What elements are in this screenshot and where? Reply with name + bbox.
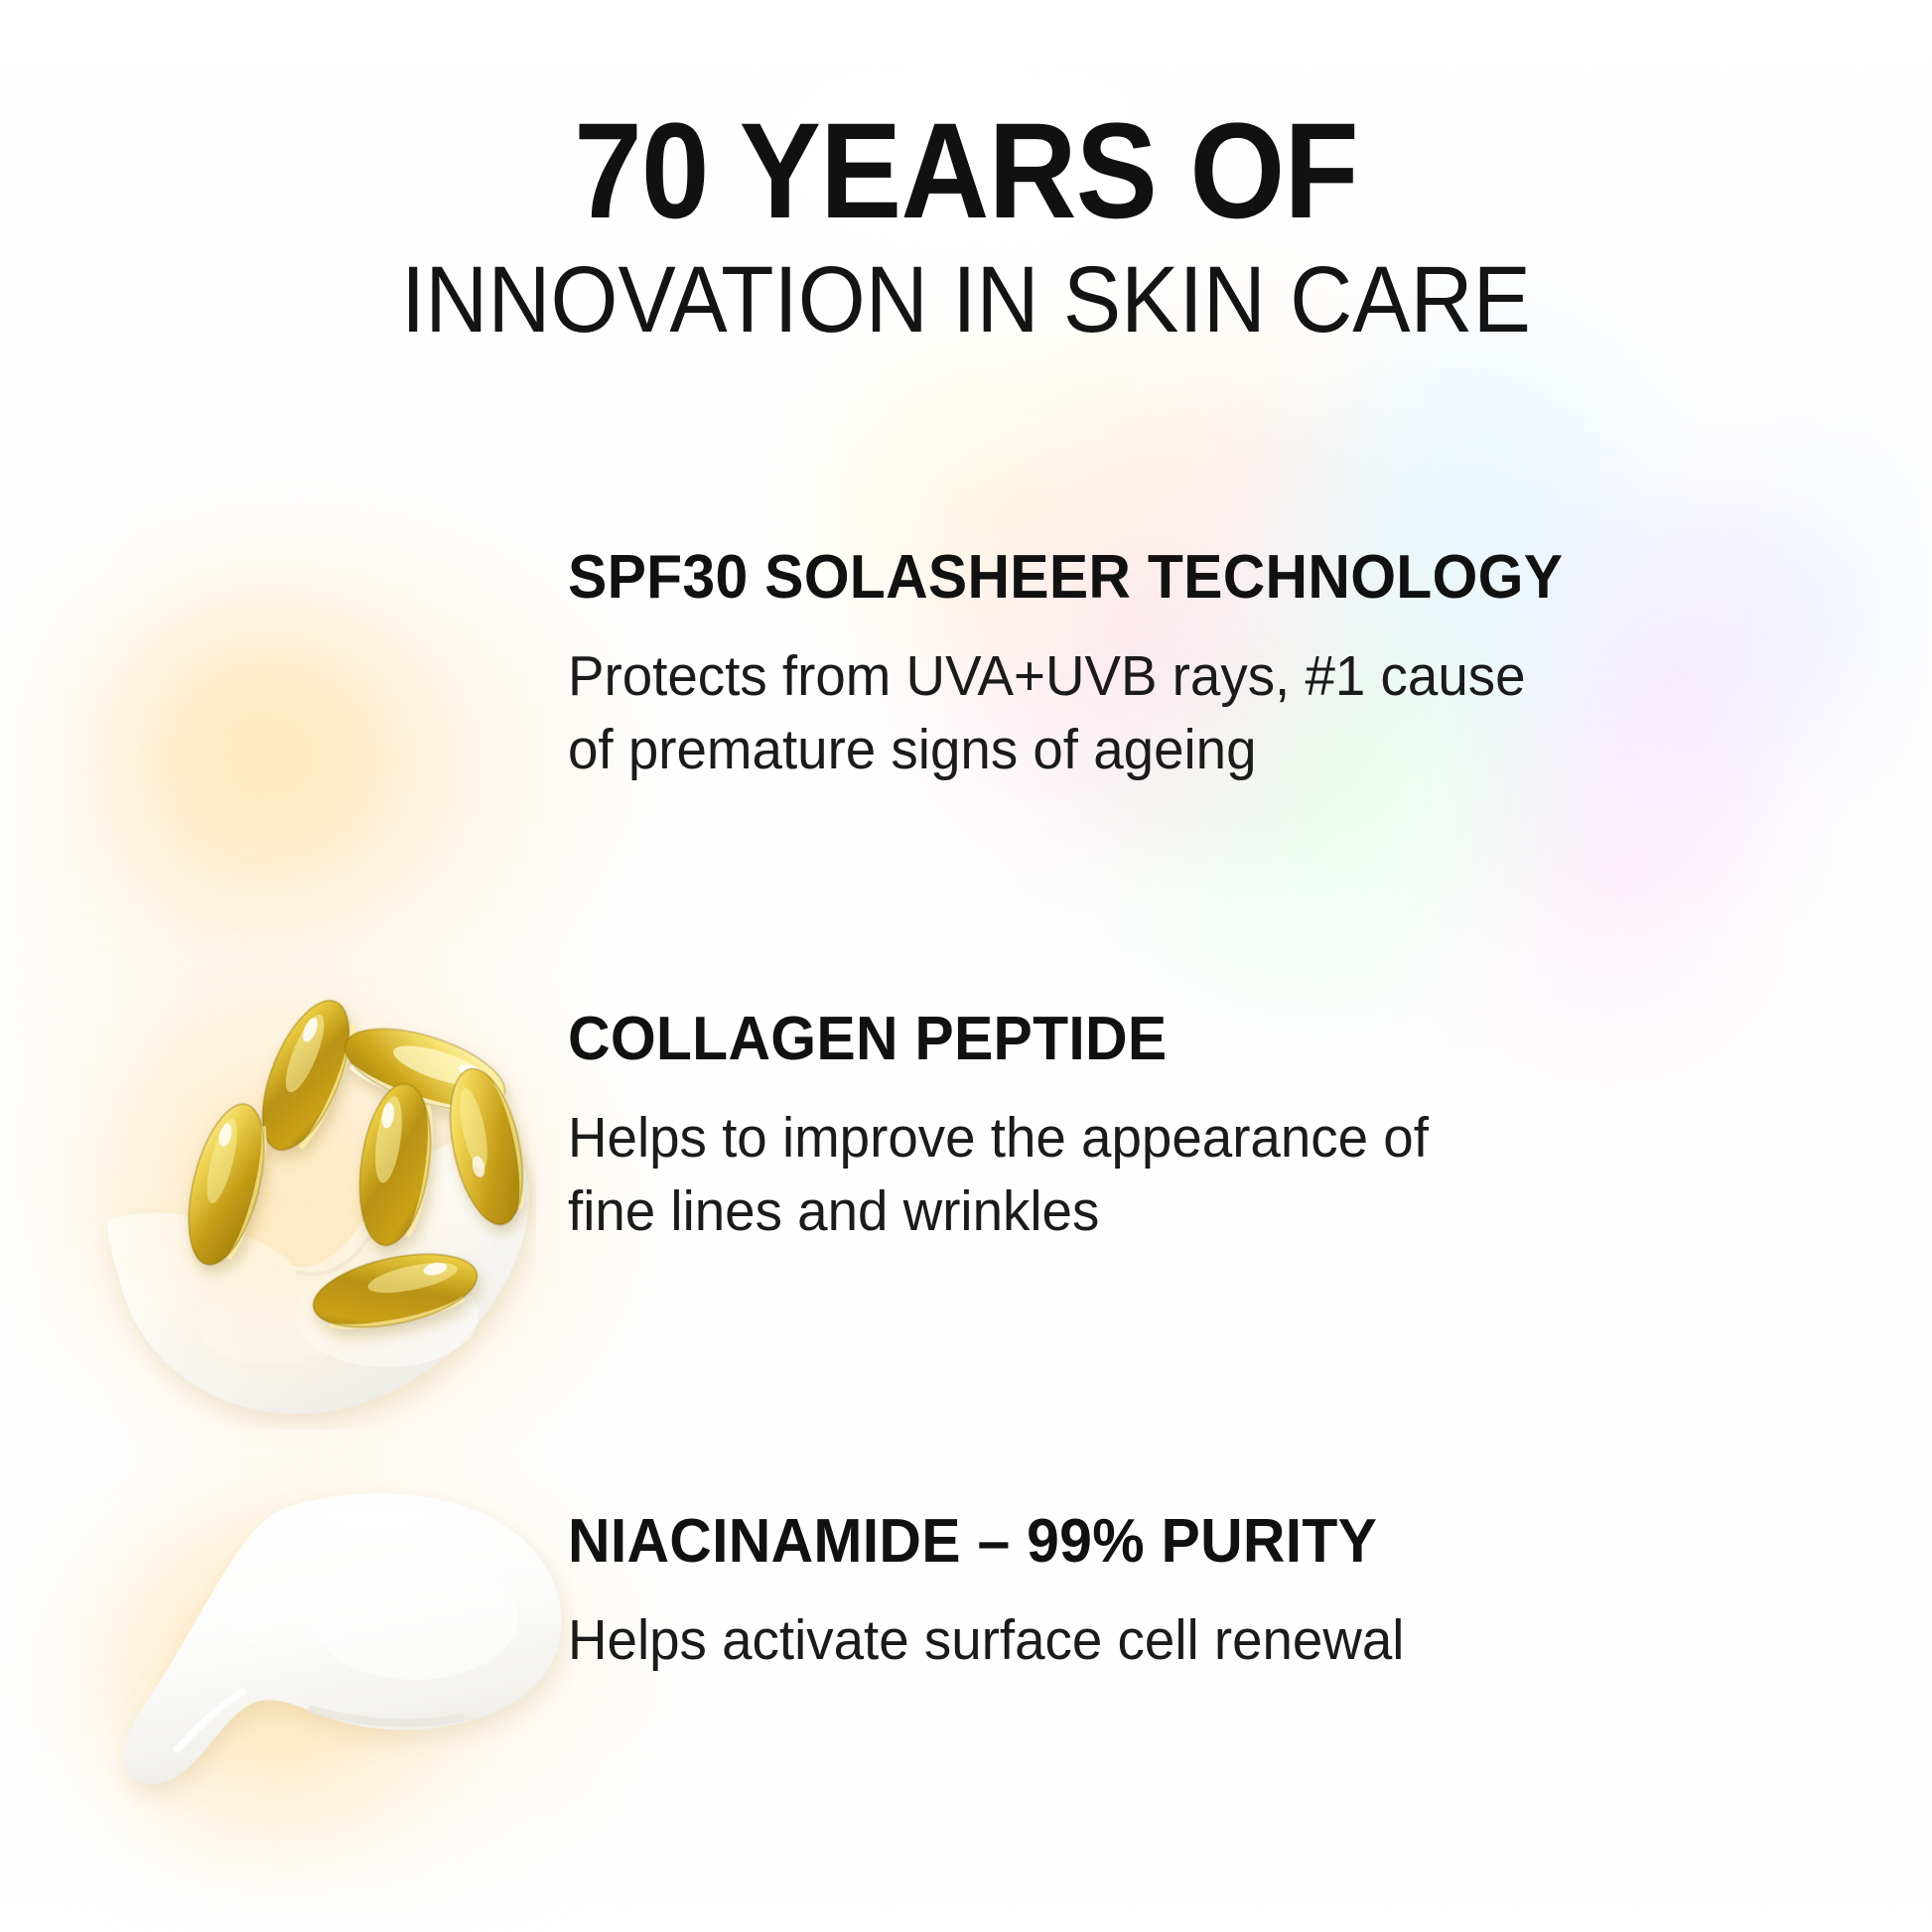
feature-body-line: of premature signs of ageing	[568, 713, 1836, 786]
feature-row-spf30: SPF30 SOLASHEER TECHNOLOGY Protects from…	[0, 551, 1932, 879]
poster-canvas: 70 YEARS OF INNOVATION IN SKIN CARE	[0, 0, 1932, 1932]
feature-body-line: Helps to improve the appearance of	[568, 1101, 1836, 1174]
feature-body-line: Helps activate surface cell renewal	[568, 1603, 1836, 1677]
swatch-glow	[30, 591, 496, 918]
feature-body-collagen: Helps to improve the appearance of fine …	[568, 1101, 1836, 1248]
feature-text-spf30: SPF30 SOLASHEER TECHNOLOGY Protects from…	[568, 545, 1888, 786]
page-headline: 70 YEARS OF	[96, 103, 1835, 239]
feature-visual-cream-swatch-3	[0, 1479, 568, 1876]
feature-row-collagen: COLLAGEN PEPTIDE Helps to improve the ap…	[0, 1013, 1932, 1390]
oil-capsules-icon	[139, 958, 556, 1375]
feature-row-niacinamide: NIACINAMIDE – 99% PURITY Helps activate …	[0, 1479, 1932, 1876]
feature-title-niacinamide: NIACINAMIDE – 99% PURITY	[568, 1509, 1823, 1574]
feature-visual-capsules	[0, 1013, 568, 1390]
feature-body-line: Protects from UVA+UVB rays, #1 cause	[568, 639, 1836, 713]
cream-swatch-icon	[107, 1479, 574, 1876]
heading-block: 70 YEARS OF INNOVATION IN SKIN CARE	[0, 103, 1932, 347]
feature-body-spf30: Protects from UVA+UVB rays, #1 cause of …	[568, 639, 1836, 786]
feature-title-collagen: COLLAGEN PEPTIDE	[568, 1007, 1823, 1071]
feature-text-collagen: COLLAGEN PEPTIDE Helps to improve the ap…	[568, 1007, 1888, 1248]
feature-visual-cream-swatch-1	[0, 551, 568, 879]
feature-body-line: fine lines and wrinkles	[568, 1174, 1836, 1248]
feature-title-spf30: SPF30 SOLASHEER TECHNOLOGY	[568, 545, 1823, 610]
feature-text-niacinamide: NIACINAMIDE – 99% PURITY Helps activate …	[568, 1509, 1888, 1677]
page-subheadline: INNOVATION IN SKIN CARE	[77, 253, 1855, 347]
feature-body-niacinamide: Helps activate surface cell renewal	[568, 1603, 1836, 1677]
